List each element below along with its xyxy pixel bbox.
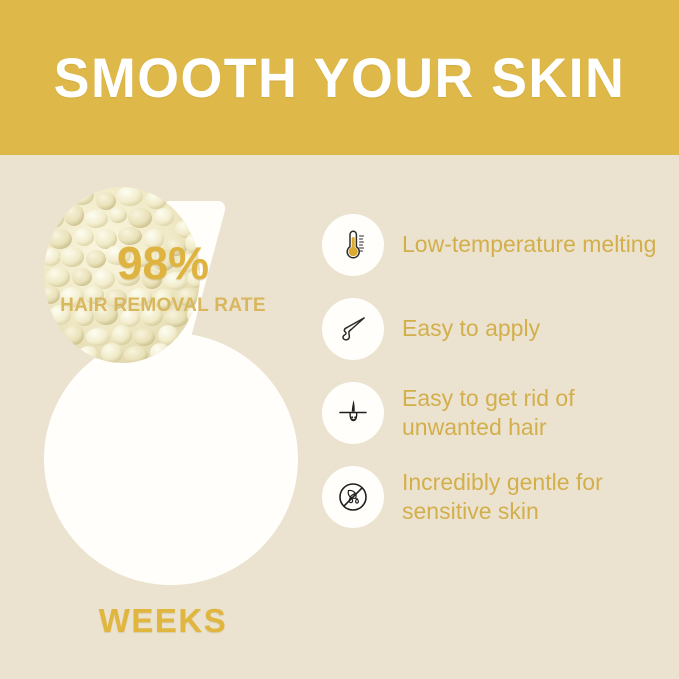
product-infographic: SMOOTH YOUR SKIN xyxy=(0,0,679,679)
feature-label: Low-temperature melting xyxy=(402,230,656,259)
feature-item-easy-to-apply: Easy to apply xyxy=(322,298,670,360)
thermometer-icon xyxy=(322,214,384,276)
feature-item-remove-hair: Easy to get rid of unwanted hair xyxy=(322,382,670,444)
wax-applicator-icon xyxy=(322,298,384,360)
no-irritation-icon xyxy=(322,466,384,528)
feature-label: Easy to get rid of unwanted hair xyxy=(402,384,670,443)
hair-follicle-icon xyxy=(322,382,384,444)
feature-list: Low-temperature melting Easy to apply xyxy=(322,214,670,528)
feature-label: Easy to apply xyxy=(402,314,540,343)
weeks-label: WEEKS xyxy=(28,602,298,640)
wax-beads-photo xyxy=(44,187,200,363)
feature-item-low-temperature: Low-temperature melting xyxy=(322,214,670,276)
feature-item-gentle-sensitive: Incredibly gentle for sensitive skin xyxy=(322,466,670,528)
six-numeral-bowl xyxy=(44,333,298,585)
page-title: SMOOTH YOUR SKIN xyxy=(14,0,666,155)
feature-label: Incredibly gentle for sensitive skin xyxy=(402,468,670,527)
